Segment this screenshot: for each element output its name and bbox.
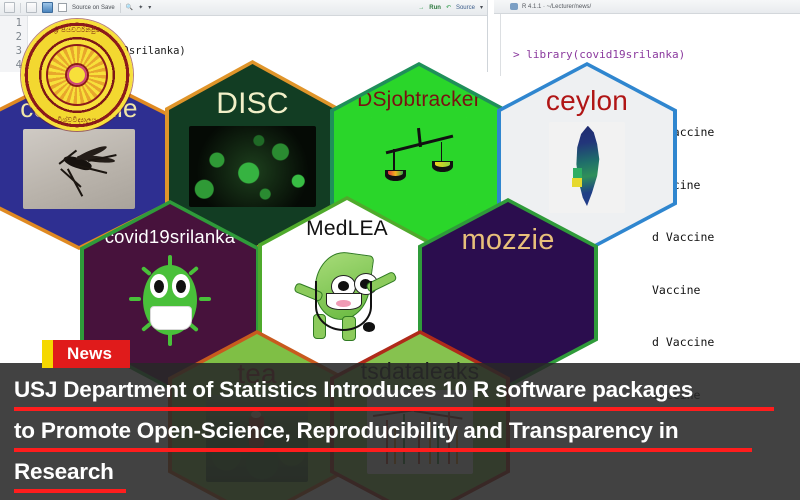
headline-underline-1 — [14, 407, 774, 411]
headline-underline-3 — [14, 489, 126, 493]
news-badge-accent — [42, 340, 53, 368]
hex-art-mosquito — [23, 129, 134, 209]
hex-art-covid-character — [125, 254, 214, 349]
hex-label-disc: DISC — [216, 87, 288, 121]
headline: USJ Department of Statistics Introduces … — [0, 363, 800, 500]
headline-line-2-text: to Promote Open-Science, Reproducibility… — [14, 412, 678, 453]
hex-label-mozzie: mozzie — [461, 224, 554, 257]
hex-label-dsjobtracker: DSjobtracker — [357, 88, 481, 112]
hex-label-covid19srilanka: covid19srilanka — [105, 226, 236, 248]
hex-art-virus-field — [189, 126, 316, 207]
hex-art-scales — [371, 117, 466, 204]
news-banner-image: Source on Save 🔍 ✦ ▾ → Run ↶ Source ▾ 1 … — [0, 0, 800, 500]
hex-art-leaf-character — [281, 246, 414, 349]
emblem-top-text: ශ්‍රී ජයවර්ධනපුර — [21, 26, 133, 35]
headline-line-3-text: Research — [14, 453, 114, 494]
news-badge: News — [42, 340, 130, 368]
emblem-bottom-text: විශ්වවිද්‍යාලය — [21, 116, 133, 125]
university-emblem: ශ්‍රී ජයවර්ධනපුර විශ්වවිද්‍යාලය — [21, 19, 133, 131]
headline-line-1-text: USJ Department of Statistics Introduces … — [14, 371, 693, 412]
hex-label-ceylon: ceylon — [546, 85, 628, 117]
headline-line-2: to Promote Open-Science, Reproducibility… — [14, 412, 778, 453]
emblem-center-icon — [67, 65, 87, 85]
headline-line-1: USJ Department of Statistics Introduces … — [14, 371, 778, 412]
hex-art-srilanka-map — [549, 122, 625, 213]
news-badge-label: News — [53, 340, 130, 368]
headline-line-3: Research — [14, 453, 778, 494]
hex-label-medlea: MedLEA — [306, 217, 388, 241]
headline-underline-2 — [14, 448, 752, 452]
